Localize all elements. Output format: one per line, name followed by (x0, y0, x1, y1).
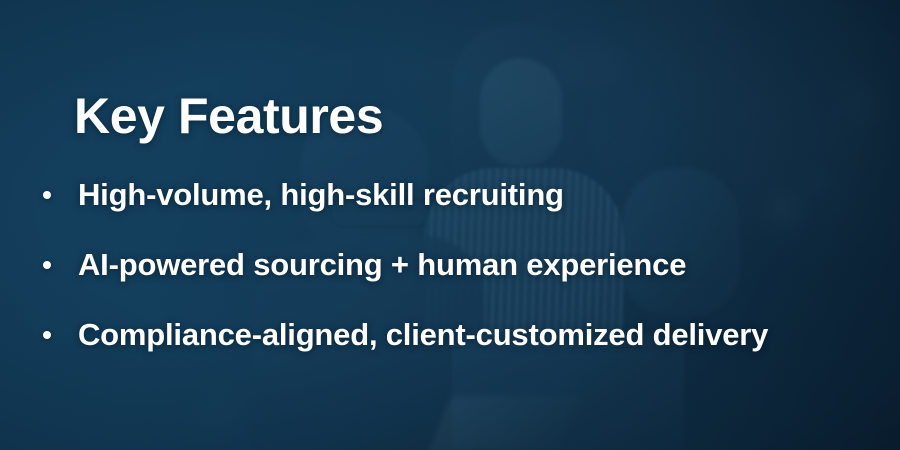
slide-content: Key Features High-volume, high-skill rec… (0, 0, 900, 450)
key-features-list: High-volume, high-skill recruiting AI-po… (38, 160, 868, 370)
list-item-label: AI-powered sourcing + human experience (78, 247, 686, 283)
bullet-dot-icon (43, 261, 51, 269)
slide-canvas: Key Features High-volume, high-skill rec… (0, 0, 900, 450)
slide-title: Key Features (74, 90, 383, 143)
list-item-label: Compliance-aligned, client-customized de… (78, 317, 768, 353)
list-item: Compliance-aligned, client-customized de… (38, 300, 868, 370)
list-item: AI-powered sourcing + human experience (38, 230, 868, 300)
bullet-dot-icon (43, 191, 51, 199)
bullet-dot-icon (43, 331, 51, 339)
list-item-label: High-volume, high-skill recruiting (78, 177, 564, 213)
list-item: High-volume, high-skill recruiting (38, 160, 868, 230)
